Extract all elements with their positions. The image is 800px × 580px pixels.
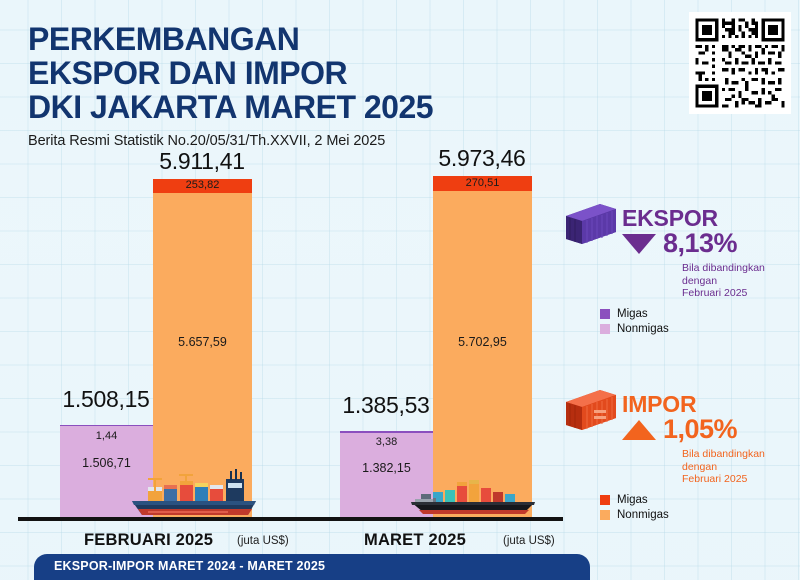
axis-label-februari: FEBRUARI 2025	[84, 531, 213, 550]
axis-label-maret: MARET 2025	[364, 531, 466, 550]
panel-impor-note-line-3: Februari 2025	[682, 473, 765, 486]
legend-impor: Migas Nonmigas	[600, 494, 669, 524]
bar-impor-maret[interactable]: 5.702,95 270,51	[433, 176, 532, 517]
segment-ekspor-migas-februari	[60, 425, 153, 426]
panel-ekspor-note: Bila dibandingkan dengan Februari 2025	[682, 262, 765, 300]
cargo-ship-illustration-maret	[403, 470, 555, 516]
qr-code-svg	[692, 15, 788, 111]
bar-group-februari: 1.506,71 1,44 1.508,15 5.657,59 253,82 5…	[0, 157, 300, 517]
label-impor-migas-maret: 270,51	[433, 177, 532, 189]
label-ekspor-migas-februari: 1,44	[60, 430, 153, 442]
legend-swatch-impor-migas	[600, 495, 610, 505]
panel-ekspor-note-line-3: Februari 2025	[682, 287, 765, 300]
footer-banner: EKSPOR-IMPOR MARET 2024 - MARET 2025	[34, 554, 590, 580]
arrow-up-icon	[622, 420, 656, 440]
legend-item-impor-nonmigas: Nonmigas	[600, 509, 669, 521]
legend-ekspor: Migas Nonmigas	[600, 308, 669, 338]
label-impor-nonmigas-maret: 5.702,95	[433, 335, 532, 349]
panel-ekspor-change: 8,13%	[622, 228, 737, 259]
legend-swatch-ekspor-migas	[600, 309, 610, 319]
footer-title: EKSPOR-IMPOR MARET 2024 - MARET 2025	[54, 559, 325, 573]
panel-impor-change: 1,05%	[622, 414, 737, 445]
qr-code-icon[interactable]	[689, 12, 791, 114]
panel-ekspor-note-line-2: dengan	[682, 275, 765, 288]
segment-ekspor-migas-maret	[340, 431, 433, 433]
axis-unit-maret: (juta US$)	[503, 535, 555, 547]
subtitle-publication-ref: Berita Resmi Statistik No.20/05/31/Th.XX…	[28, 133, 668, 149]
panel-ekspor: EKSPOR 8,13% Bila dibandingkan dengan Fe…	[562, 202, 787, 248]
panel-ekspor-percent: 8,13%	[663, 228, 737, 259]
legend-item-ekspor-migas: Migas	[600, 308, 669, 320]
panel-impor-note: Bila dibandingkan dengan Februari 2025	[682, 448, 765, 486]
bar-group-maret: 1.382,15 3,38 1.385,53 5.702,95 270,51 5…	[285, 157, 585, 517]
shipping-container-icon-impor	[564, 388, 618, 432]
panel-ekspor-note-line-1: Bila dibandingkan	[682, 262, 765, 275]
cargo-ship-illustration-februari	[118, 465, 270, 517]
legend-swatch-impor-nonmigas	[600, 510, 610, 520]
legend-swatch-ekspor-nonmigas	[600, 324, 610, 334]
panel-impor-note-line-2: dengan	[682, 461, 765, 474]
header: PERKEMBANGAN EKSPOR DAN IMPOR DKI JAKART…	[28, 22, 668, 149]
legend-label-ekspor-migas: Migas	[617, 308, 648, 320]
segment-impor-nonmigas-maret	[433, 191, 532, 517]
legend-label-impor-nonmigas: Nonmigas	[617, 509, 669, 521]
legend-item-impor-migas: Migas	[600, 494, 669, 506]
chart-baseline	[18, 517, 563, 521]
shipping-container-icon-ekspor	[564, 202, 618, 246]
label-ekspor-migas-maret: 3,38	[340, 436, 433, 448]
panel-impor-note-line-1: Bila dibandingkan	[682, 448, 765, 461]
label-impor-migas-februari: 253,82	[153, 179, 252, 191]
panel-impor-percent: 1,05%	[663, 414, 737, 445]
arrow-down-icon	[622, 234, 656, 254]
total-impor-maret: 5.973,46	[402, 145, 562, 172]
axis-unit-februari: (juta US$)	[237, 535, 289, 547]
legend-label-impor-migas: Migas	[617, 494, 648, 506]
legend-label-ekspor-nonmigas: Nonmigas	[617, 323, 669, 335]
page-title-line-3: DKI JAKARTA MARET 2025	[28, 90, 668, 124]
panel-impor: IMPOR 1,05% Bila dibandingkan dengan Feb…	[562, 388, 787, 434]
page-title-line-1: PERKEMBANGAN	[28, 22, 668, 56]
total-impor-februari: 5.911,41	[122, 148, 282, 175]
legend-item-ekspor-nonmigas: Nonmigas	[600, 323, 669, 335]
label-impor-nonmigas-februari: 5.657,59	[153, 335, 252, 349]
page-title-line-2: EKSPOR DAN IMPOR	[28, 56, 668, 90]
